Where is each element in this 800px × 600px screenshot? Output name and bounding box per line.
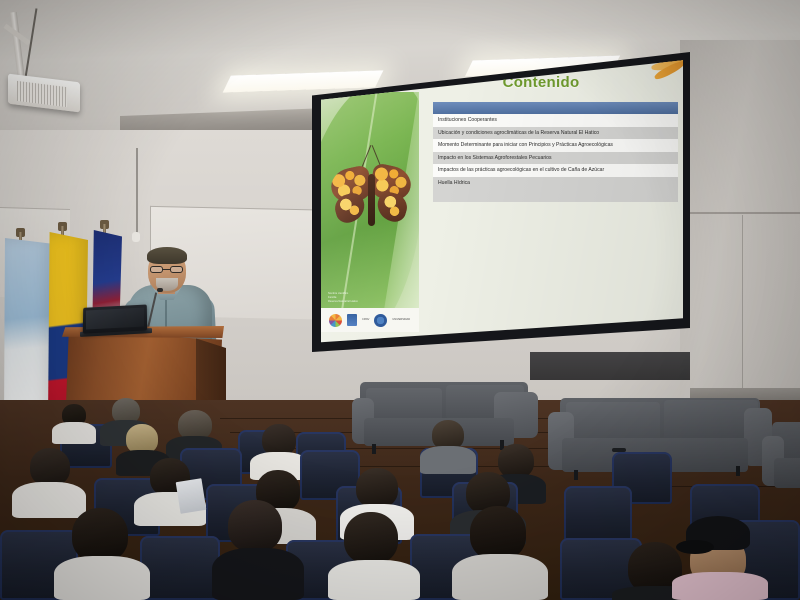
list-item: Impactos de las prácticas agroecológicas… (433, 164, 678, 177)
audience-head (228, 500, 282, 552)
hanging-cord (136, 148, 138, 236)
audience-shoulders (212, 548, 304, 600)
list-item: Momento Determinante para iniciar con Pr… (433, 139, 678, 152)
audience-head (72, 508, 128, 562)
photo-caption-line-3: Reserva Natural El Hatico (328, 300, 402, 304)
right-wall (680, 40, 800, 440)
university-logo-label: UNIVERSIDAD (392, 318, 410, 321)
audience-shoulders (12, 482, 86, 518)
podium-microphone-icon (157, 288, 163, 292)
presenter-glasses-right (170, 266, 183, 273)
audience-shoulders (452, 554, 548, 600)
audience-shoulders (54, 556, 150, 600)
audience-head (344, 512, 398, 564)
butterfly-body (368, 174, 375, 226)
audience-shoulders (52, 422, 96, 444)
university-logo-icon (374, 314, 387, 327)
list-item: Instituciones Cooperantes (433, 114, 678, 127)
auditorium-scene: Nombre científico Familia Reserva Natura… (0, 0, 800, 600)
audience-shoulders (672, 572, 768, 600)
audience-head (356, 468, 398, 508)
audience-chair[interactable] (140, 536, 220, 600)
slide-photo-butterfly: Nombre científico Familia Reserva Natura… (321, 92, 419, 332)
institution-logo-icon (347, 314, 357, 326)
wall-trim (690, 212, 800, 214)
presenter-hair (147, 247, 187, 264)
photo-caption: Nombre científico Familia Reserva Natura… (328, 292, 402, 304)
institution-logo-label: CIPAV (362, 318, 369, 321)
list-item: Impacto en los Sistemas Agroforestales P… (433, 152, 678, 165)
presentation-slide: Nombre científico Familia Reserva Natura… (321, 58, 683, 344)
baseball-cap-brim-icon (676, 540, 714, 554)
audience-shoulders (328, 560, 420, 600)
butterfly-icon (331, 164, 413, 246)
presenter-glasses-bridge (163, 269, 170, 270)
projection-screen[interactable]: Nombre científico Familia Reserva Natura… (321, 58, 683, 344)
wall-seam (742, 215, 743, 405)
audience-head (30, 448, 70, 486)
audience-head (470, 506, 526, 560)
slide-table-header-band (433, 102, 678, 114)
audience-chair[interactable] (564, 486, 632, 544)
sunflower-logo-icon (329, 314, 342, 327)
slide-content-list: Instituciones Cooperantes Ubicación y co… (433, 114, 678, 202)
wall-artwork (530, 352, 690, 380)
hanging-cord-tip (132, 232, 140, 242)
slide-logo-strip: CIPAV UNIVERSIDAD (321, 308, 419, 332)
audience-notebook (176, 478, 207, 514)
list-item: Ubicación y condiciones agroclimáticas d… (433, 127, 678, 140)
laptop-screen (86, 307, 144, 329)
presenter-glasses-left (150, 266, 163, 273)
audience-head (498, 444, 534, 478)
list-item: Huella Hídrica (433, 177, 678, 190)
list-item-empty (433, 190, 678, 203)
audience-shoulders (420, 446, 476, 474)
